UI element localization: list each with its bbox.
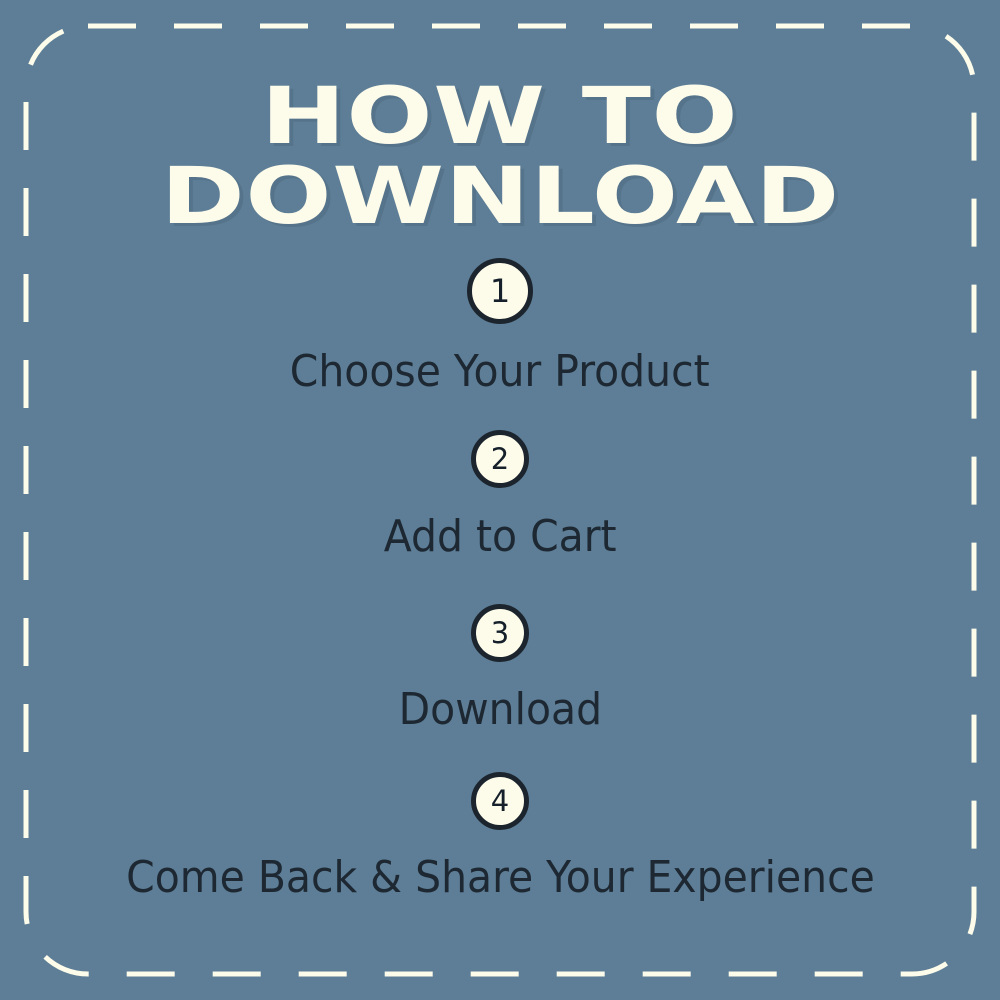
title-line-2: DOWNLOAD (0, 158, 1000, 236)
page-title: HOW TO DOWNLOAD (0, 78, 1000, 236)
title-line-1: HOW TO (0, 78, 1000, 156)
step-item-4: 4 Come Back & Share Your Experience (0, 772, 1000, 900)
step-label-1: Choose Your Product (0, 350, 1000, 394)
step-label-3: Download (0, 688, 1000, 732)
step-item-1: 1 Choose Your Product (0, 258, 1000, 394)
step-label-4-text: Come Back & Share Your Experience (126, 856, 875, 900)
step-number-badge-1: 1 (467, 258, 533, 324)
step-label-1-text: Choose Your Product (290, 350, 710, 394)
how-to-download-poster: HOW TO DOWNLOAD 1 Choose Your Product 2 … (0, 0, 1000, 1000)
step-number-badge-4: 4 (471, 772, 529, 830)
step-label-3-text: Download (398, 688, 601, 732)
step-number-badge-3: 3 (471, 604, 529, 662)
step-label-2-text: Add to Cart (384, 515, 617, 559)
step-item-2: 2 Add to Cart (0, 430, 1000, 559)
title-line-2-text: DOWNLOAD (160, 158, 839, 236)
step-label-2: Add to Cart (0, 515, 1000, 559)
step-item-3: 3 Download (0, 604, 1000, 732)
step-number-badge-2: 2 (471, 430, 529, 488)
step-label-4: Come Back & Share Your Experience (0, 856, 1000, 900)
title-line-1-text: HOW TO (261, 78, 738, 156)
